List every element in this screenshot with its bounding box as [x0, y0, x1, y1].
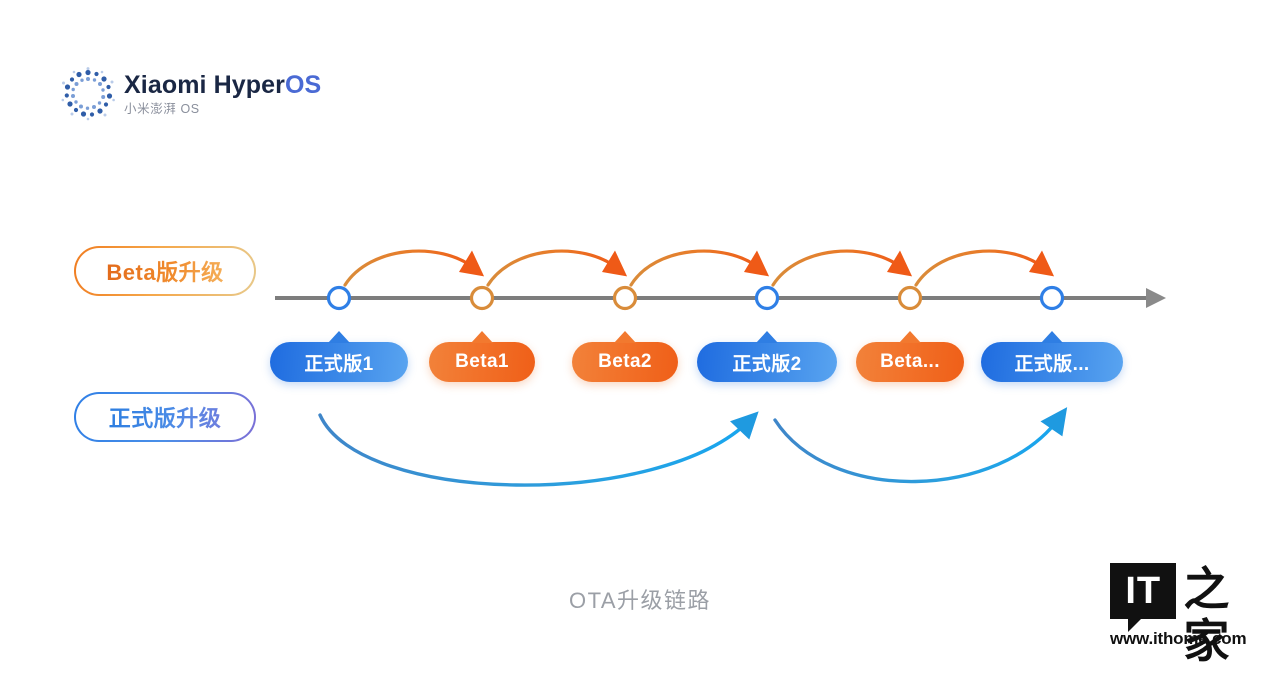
brand-text-block: Xiaomi HyperOS 小米澎湃 OS: [124, 72, 321, 116]
arrow-right-icon: [1146, 288, 1166, 308]
beta-upgrade-arcs: [345, 251, 1044, 285]
node-beta-1: [472, 288, 493, 309]
release-pill-label: 正式版2: [732, 349, 801, 376]
pill-pointer-icon: [328, 331, 350, 343]
release-pill-stable-1[interactable]: 正式版1: [270, 342, 408, 382]
brand-title-accent: OS: [285, 71, 321, 99]
node-beta-2: [615, 288, 636, 309]
slide-root: Xiaomi HyperOS 小米澎湃 OS Beta版升级 正式版升级: [0, 0, 1280, 678]
timeline-axis: [275, 288, 1166, 308]
ithome-cn-text: 之家: [1183, 563, 1266, 667]
release-pill-stable-3[interactable]: 正式版...: [981, 342, 1123, 382]
xiaomi-hyperos-dot-ring-logo: [60, 66, 116, 122]
node-beta-3: [900, 288, 921, 309]
legend-badge-stable: 正式版升级: [74, 392, 256, 442]
ithome-badge-text: IT: [1110, 569, 1176, 613]
pill-pointer-icon: [1041, 331, 1063, 343]
legend-badge-beta: Beta版升级: [74, 246, 256, 296]
brand-logo: Xiaomi HyperOS 小米澎湃 OS: [60, 66, 321, 122]
node-stable-3: [1042, 288, 1063, 309]
legend-badge-beta-label: Beta版升级: [106, 255, 223, 287]
release-pill-label: 正式版1: [304, 349, 373, 376]
diagram-caption: OTA升级链路: [0, 583, 1280, 615]
legend-badge-stable-label: 正式版升级: [109, 401, 222, 433]
brand-subtitle: 小米澎湃 OS: [124, 103, 321, 116]
release-pill-beta-2[interactable]: Beta2: [572, 342, 678, 382]
brand-title-main: Xiaomi Hyper: [124, 71, 285, 99]
timeline-nodes: [329, 288, 1063, 309]
pill-pointer-icon: [471, 331, 493, 343]
release-pill-label: Beta...: [880, 351, 940, 373]
stable-upgrade-arcs: [320, 415, 1060, 485]
ithome-watermark: IT 之家 www.ithome.com: [1110, 563, 1266, 649]
release-pill-beta-1[interactable]: Beta1: [429, 342, 535, 382]
pill-pointer-icon: [899, 331, 921, 343]
brand-title: Xiaomi HyperOS: [124, 72, 321, 98]
speech-bubble-tail-icon: [1128, 618, 1142, 632]
release-pill-beta-3[interactable]: Beta...: [856, 342, 964, 382]
ithome-badge-icon: IT: [1110, 563, 1176, 619]
node-stable-1: [329, 288, 350, 309]
release-pill-label: Beta1: [455, 351, 509, 373]
ithome-url: www.ithome.com: [1110, 629, 1266, 649]
release-pill-stable-2[interactable]: 正式版2: [697, 342, 837, 382]
dot-ring-icon: [60, 66, 116, 122]
ithome-logo: IT 之家: [1110, 563, 1266, 625]
release-pill-label: 正式版...: [1014, 349, 1089, 376]
pill-pointer-icon: [614, 331, 636, 343]
pill-pointer-icon: [756, 331, 778, 343]
node-stable-2: [757, 288, 778, 309]
release-pill-label: Beta2: [598, 351, 652, 373]
